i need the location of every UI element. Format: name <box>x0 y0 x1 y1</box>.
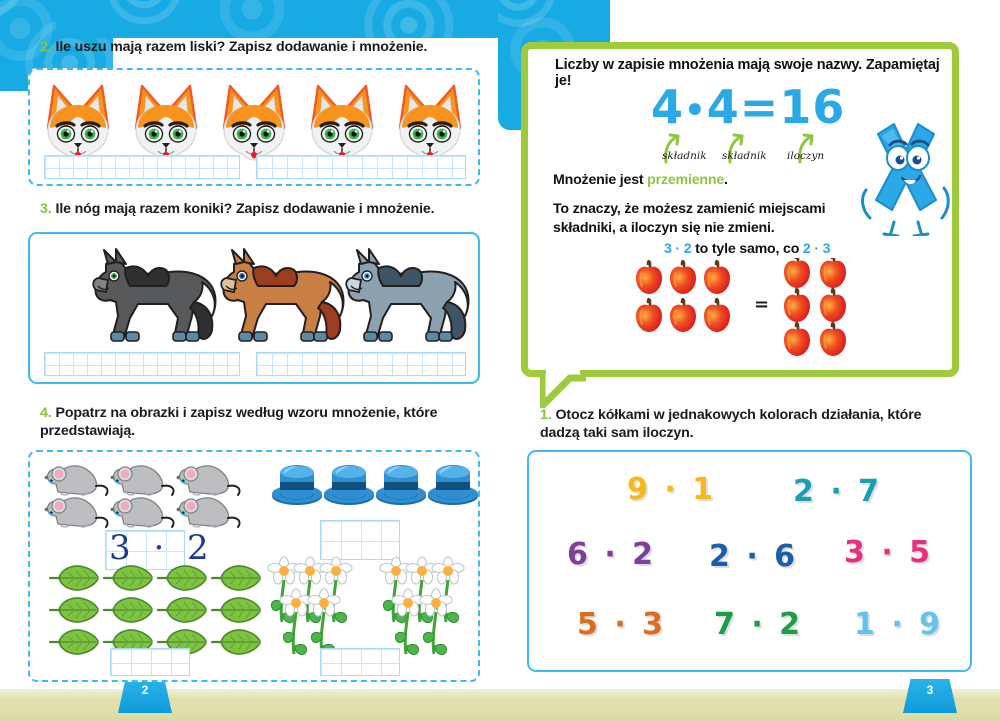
expression-3x5[interactable]: 3 · 5 <box>844 535 933 570</box>
task-3-heading: 3.Ile nóg mają razem koniki? Zapisz doda… <box>40 200 490 218</box>
task-4-text: Popatrz na obrazki i zapisz według wzoru… <box>40 405 437 439</box>
task-1-heading: 1.Otocz kółkami w jednakowych kolorach d… <box>540 406 960 443</box>
expression-6x2[interactable]: 6 · 2 <box>567 537 656 572</box>
flower-bouquet-1 <box>268 557 352 655</box>
task-4-heading: 4.Popatrz na obrazki i zapisz według wzo… <box>40 404 460 441</box>
expression-2x7[interactable]: 2 · 7 <box>793 474 882 509</box>
commutativity-example: 3 · 2 to tyle samo, co 2 · 3 <box>664 240 830 259</box>
task-4-answer-grid-leaves[interactable] <box>110 648 190 676</box>
rule-line: Mnożenie jest przemienne. <box>553 171 853 190</box>
expression-1x9[interactable]: 1 · 9 <box>854 607 943 642</box>
task-4-number: 4. <box>40 405 52 421</box>
task-3-number: 3. <box>40 201 52 217</box>
label-skladnik-1: składnik <box>662 150 707 162</box>
expression-7x2[interactable]: 7 · 2 <box>714 607 803 642</box>
equation-factor-2: 4 <box>707 80 740 134</box>
flower-bouquet-2 <box>380 557 464 655</box>
decorative-band-top-strip <box>56 0 546 38</box>
page-number-right: 3 <box>903 679 957 713</box>
apple-arrays-illustration: = <box>630 258 870 364</box>
page-number-left: 2 <box>118 679 172 713</box>
expression-9x1[interactable]: 9 · 1 <box>627 472 716 507</box>
rule-explanation: To znaczy, że możesz zamienić miejscami … <box>553 200 853 238</box>
task-1-exercise-box[interactable]: 9 · 1 2 · 7 6 · 2 2 · 6 3 · 5 5 · 3 7 · … <box>527 450 972 672</box>
x-character-mascot-icon <box>856 118 956 236</box>
expression-2x6[interactable]: 2 · 6 <box>709 539 798 574</box>
task-4-answer-mice: 3 · 2 <box>109 528 215 568</box>
task-4-answer-grid-hats[interactable] <box>320 520 400 560</box>
task-4-answer-grid-flowers[interactable] <box>320 648 400 676</box>
task-4-exercise-box[interactable]: 3 · 2 <box>28 450 480 682</box>
hat-group-illustration <box>270 458 480 508</box>
task-1-number: 1. <box>540 407 552 423</box>
expression-5x3[interactable]: 5 · 3 <box>577 607 666 642</box>
info-bubble-tail <box>540 370 584 404</box>
apple-group-right <box>784 258 846 356</box>
task-2-text: Ile uszu mają razem liski? Zapisz dodawa… <box>56 39 428 55</box>
equation-equals: = <box>740 80 780 134</box>
task-3-text: Ile nóg mają razem koniki? Zapisz dodawa… <box>56 201 435 217</box>
apple-equals-sign: = <box>754 294 769 315</box>
label-iloczyn: iloczyn <box>787 150 824 162</box>
example-middle-text: to tyle samo, co <box>691 241 803 257</box>
equation-factor-1: 4 <box>651 80 684 134</box>
label-skladnik-2: składnik <box>722 150 767 162</box>
equation-product: 16 <box>779 80 845 134</box>
workbook-spread: 2 3 2.Ile uszu mają razem liski? Zapisz … <box>0 0 1000 721</box>
example-left-expression: 3 · 2 <box>664 241 691 257</box>
task-2-number: 2. <box>40 39 52 55</box>
task-3-exercise-box[interactable] <box>28 232 480 384</box>
mouse-group-illustration <box>42 460 242 532</box>
info-bubble-equation: 4•4=16 <box>651 80 845 134</box>
task-2-answer-grid-left[interactable] <box>44 155 240 179</box>
task-3-answer-grid-right[interactable] <box>256 352 466 376</box>
rule-suffix: . <box>724 172 728 188</box>
task-2-exercise-box[interactable] <box>28 68 480 186</box>
task-2-heading: 2.Ile uszu mają razem liski? Zapisz doda… <box>40 38 490 56</box>
rule-prefix: Mnożenie jest <box>553 172 647 188</box>
example-right-expression: 2 · 3 <box>803 241 830 257</box>
task-2-answer-grid-right[interactable] <box>256 155 466 179</box>
horse-row-illustration <box>30 236 478 354</box>
equation-operator: • <box>684 91 707 131</box>
rule-keyword: przemienne <box>647 172 724 188</box>
apple-group-left <box>636 261 730 332</box>
task-3-answer-grid-left[interactable] <box>44 352 240 376</box>
task-1-text: Otocz kółkami w jednakowych kolorach dzi… <box>540 407 921 441</box>
